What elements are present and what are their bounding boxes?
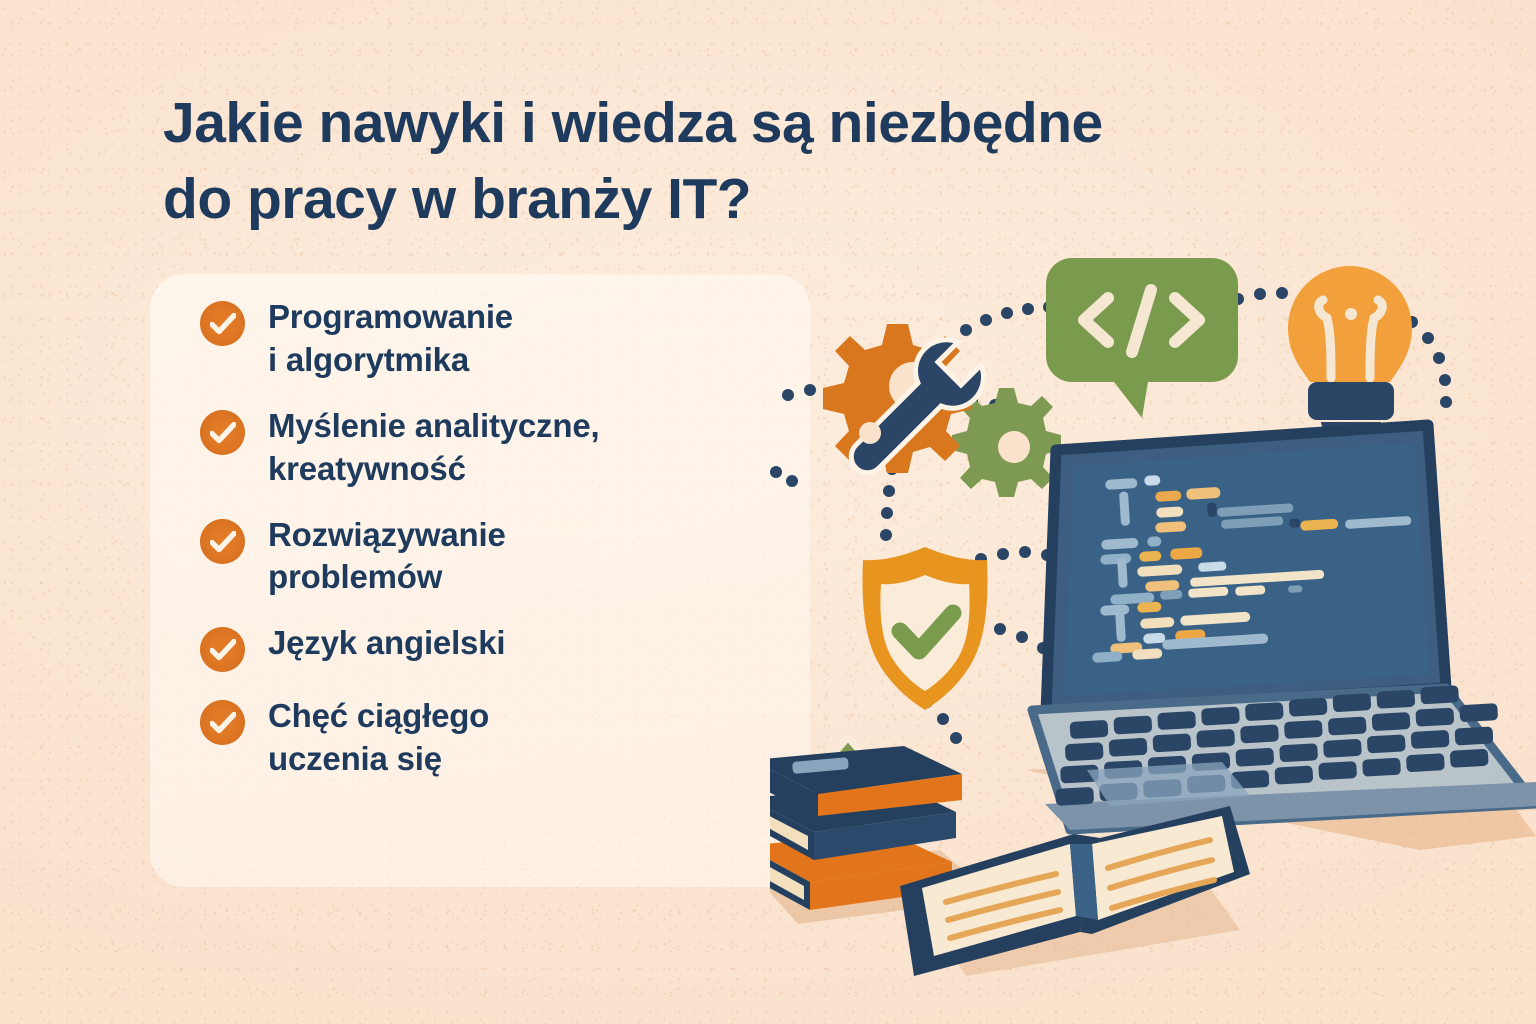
list-item-line-1: Język angielski: [268, 624, 505, 661]
list-item-text: Programowanie i algorytmika: [268, 295, 513, 382]
check-circle-icon: [200, 627, 245, 672]
list-item-text: Chęć ciągłego uczenia się: [268, 694, 489, 781]
list-item-line-1: Rozwiązywanie: [268, 516, 506, 553]
page-title: Jakie nawyki i wiedza są niezbędne do pr…: [163, 86, 1343, 238]
list-item-line-1: Programowanie: [268, 298, 513, 335]
it-skills-illustration: [770, 210, 1536, 1024]
code-bubble-icon: [1046, 258, 1238, 418]
list-item-line-2: problemów: [268, 556, 506, 599]
list-item: Język angielski: [200, 621, 800, 672]
list-item: Chęć ciągłego uczenia się: [200, 694, 800, 781]
check-circle-icon: [200, 410, 245, 455]
check-circle-icon: [200, 700, 245, 745]
laptop-icon: [1032, 425, 1536, 830]
list-item-line-2: uczenia się: [268, 738, 489, 781]
list-item: Myślenie analityczne, kreatywność: [200, 404, 800, 491]
page-title-line-1: Jakie nawyki i wiedza są niezbędne: [163, 86, 1343, 162]
gear-wrench-icon: [823, 324, 1061, 497]
page-title-line-2: do pracy w branży IT?: [163, 162, 1343, 238]
list-item-line-2: kreatywność: [268, 448, 599, 491]
check-circle-icon: [200, 301, 245, 346]
list-item: Rozwiązywanie problemów: [200, 513, 800, 600]
check-circle-icon: [200, 519, 245, 564]
list-item-line-2: i algorytmika: [268, 339, 513, 382]
checklist: Programowanie i algorytmika Myślenie ana…: [200, 295, 800, 781]
list-item-text: Język angielski: [268, 621, 505, 665]
lightbulb-icon: [1288, 266, 1412, 444]
list-item-line-1: Myślenie analityczne,: [268, 407, 599, 444]
list-item: Programowanie i algorytmika: [200, 295, 800, 382]
list-item-line-1: Chęć ciągłego: [268, 697, 489, 734]
list-item-text: Rozwiązywanie problemów: [268, 513, 506, 600]
shield-check-icon: [863, 547, 988, 710]
list-item-text: Myślenie analityczne, kreatywność: [268, 404, 599, 491]
